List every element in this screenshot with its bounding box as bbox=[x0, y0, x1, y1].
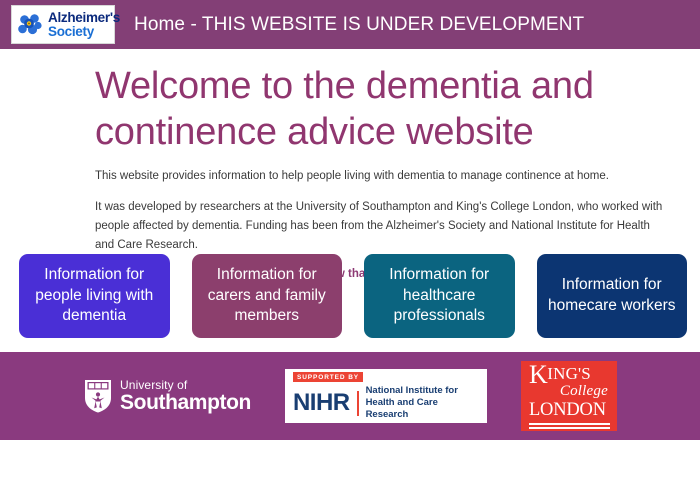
audience-box-homecare-workers[interactable]: Information for homecare workers bbox=[537, 254, 688, 338]
audience-box-people-living-with-dementia[interactable]: Information for people living with demen… bbox=[19, 254, 170, 338]
southampton-crest-icon bbox=[83, 378, 113, 414]
kcl-london-word: LONDON bbox=[529, 401, 610, 420]
southampton-logo-text: University of Southampton bbox=[120, 379, 251, 413]
audience-box-carers-and-family-members[interactable]: Information for carers and family member… bbox=[192, 254, 343, 338]
page-root: Alzheimer's Society Home - THIS WEBSITE … bbox=[0, 0, 700, 500]
nihr-full-name: National Institute for Health and Care R… bbox=[366, 385, 480, 421]
university-of-southampton-logo[interactable]: University of Southampton bbox=[83, 378, 251, 414]
forget-me-not-flower-icon bbox=[16, 11, 44, 39]
page-title: Welcome to the dementia and continence a… bbox=[0, 49, 655, 156]
kcl-ings-letters: ING'S bbox=[547, 363, 591, 382]
southampton-line-2: Southampton bbox=[120, 392, 251, 413]
kcl-college-word: College bbox=[529, 383, 610, 400]
alzheimers-society-logo[interactable]: Alzheimer's Society bbox=[11, 5, 115, 44]
nihr-logo-row: NIHR National Institute for Health and C… bbox=[293, 385, 480, 421]
logo-line-1: Alzheimer's bbox=[48, 11, 120, 25]
kings-college-london-logo[interactable]: K ING'S College LONDON bbox=[521, 361, 617, 431]
main-content: Welcome to the dementia and continence a… bbox=[0, 49, 700, 280]
nihr-name-line-1: National Institute for bbox=[366, 385, 480, 397]
nihr-name-line-2: Health and Care Research bbox=[366, 397, 480, 421]
site-footer: University of Southampton SUPPORTED BY N… bbox=[0, 352, 700, 440]
intro-paragraph-2: It was developed by researchers at the U… bbox=[0, 186, 695, 255]
intro-paragraph-1: This website provides information to hel… bbox=[0, 156, 700, 186]
nihr-supported-by-badge: SUPPORTED BY bbox=[293, 372, 363, 382]
site-header: Alzheimer's Society Home - THIS WEBSITE … bbox=[0, 0, 700, 49]
nihr-wordmark: NIHR bbox=[293, 391, 350, 415]
nihr-divider bbox=[357, 391, 359, 416]
southampton-line-1: University of bbox=[120, 379, 251, 391]
kcl-underline-rules bbox=[529, 423, 610, 431]
audience-box-healthcare-professionals[interactable]: Information for healthcare professionals bbox=[364, 254, 515, 338]
header-title: Home - THIS WEBSITE IS UNDER DEVELOPMENT bbox=[134, 14, 584, 36]
nihr-logo[interactable]: SUPPORTED BY NIHR National Institute for… bbox=[285, 369, 487, 423]
alzheimers-society-logo-text: Alzheimer's Society bbox=[48, 11, 120, 38]
audience-box-group: Information for people living with demen… bbox=[19, 254, 687, 338]
logo-line-2: Society bbox=[48, 25, 120, 39]
